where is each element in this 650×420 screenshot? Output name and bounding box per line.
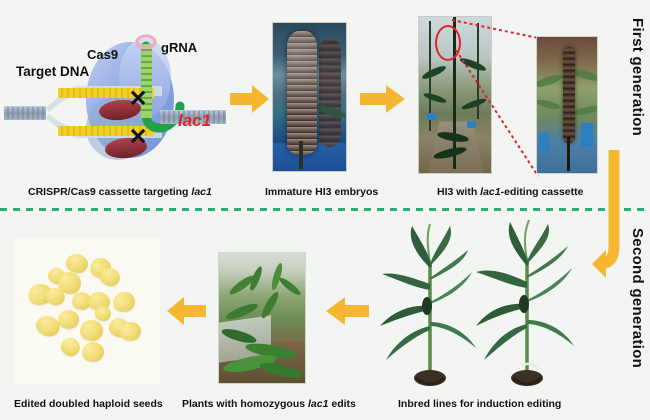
caption-plants-pre: Plants with homozygous	[182, 398, 308, 410]
caption-hi3-italic: lac1	[480, 186, 500, 198]
label-grna: gRNA	[161, 40, 198, 55]
crispr-svg: Target DNA Cas9 gRNA lac1	[2, 28, 227, 173]
caption-homozygous-plants: Plants with homozygous lac1 edits	[182, 398, 356, 410]
caption-crispr-cassette: CRISPR/Cas9 cassette targeting lac1	[28, 186, 212, 198]
generation-divider	[0, 208, 650, 211]
caption-crispr-pre: CRISPR/Cas9 cassette targeting	[28, 186, 191, 198]
arrow-to-seeds	[166, 296, 206, 331]
caption-inbred-pre: Inbred lines for induction editing	[398, 398, 561, 410]
workflow-figure: Target DNA Cas9 gRNA lac1	[0, 0, 650, 420]
caption-hi3-post: -editing cassette	[501, 186, 584, 198]
arrow-to-homozygous-plants	[325, 296, 369, 331]
maize-plants-svg	[372, 218, 602, 386]
label-target-dna: Target DNA	[16, 64, 90, 79]
caption-plants-italic: lac1	[308, 398, 328, 410]
caption-embryos-pre: Immature HI3 embryos	[265, 186, 378, 198]
caption-plants-post: edits	[328, 398, 355, 410]
inbred-lines-photo	[372, 218, 602, 386]
maize-plant-right	[476, 220, 574, 386]
label-lac1-gene: lac1	[178, 111, 211, 130]
homozygous-plants-photo	[218, 252, 306, 384]
label-cas9: Cas9	[87, 47, 118, 62]
caption-inbred-lines: Inbred lines for induction editing	[398, 398, 561, 410]
tassel-inset-photo	[536, 36, 598, 174]
arrow-to-hi3-cassette	[360, 84, 406, 119]
first-generation-label: First generation	[629, 18, 646, 136]
arrow-to-embryos	[230, 84, 270, 119]
edited-seeds-photo	[14, 238, 160, 384]
second-generation-label: Second generation	[629, 228, 646, 368]
caption-edited-seeds: Edited doubled haploid seeds	[14, 398, 163, 410]
caption-hi3-pre: HI3 with	[437, 186, 480, 198]
caption-hi3-cassette: HI3 with lac1-editing cassette	[437, 186, 583, 198]
immature-embryos-photo	[272, 22, 347, 172]
crispr-cas9-schematic: Target DNA Cas9 gRNA lac1	[2, 28, 227, 173]
maize-plant-left	[380, 224, 476, 386]
caption-crispr-italic: lac1	[191, 186, 211, 198]
caption-immature-embryos: Immature HI3 embryos	[265, 186, 378, 198]
caption-seeds-pre: Edited doubled haploid seeds	[14, 398, 163, 410]
